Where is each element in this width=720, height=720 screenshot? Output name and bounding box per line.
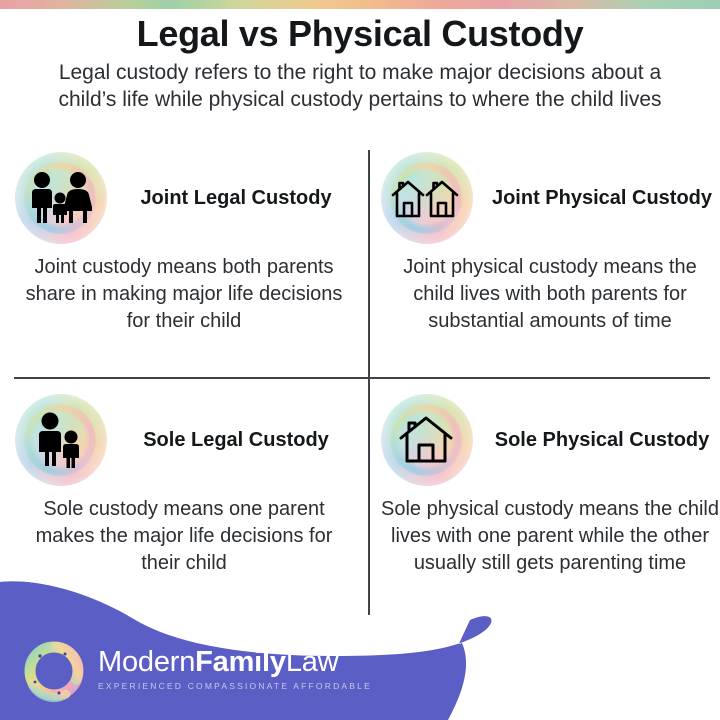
quadrant-joint-physical-custody: Joint Physical Custody Joint physical cu…: [374, 148, 720, 335]
single-house-icon: [398, 414, 454, 466]
quadrant-title: Joint Legal Custody: [112, 186, 360, 211]
brand-tagline: EXPERIENCED COMPASSIONATE AFFORDABLE: [98, 681, 372, 691]
quadrant-title: Sole Legal Custody: [112, 428, 360, 453]
brand-logo[interactable]: ModernFamilyLaw EXPERIENCED COMPASSIONAT…: [18, 634, 372, 706]
page-subtitle: Legal custody refers to the right to mak…: [30, 59, 690, 113]
horizontal-divider: [14, 377, 710, 379]
top-gradient-strip: [0, 0, 720, 9]
quadrant-header: Joint Physical Custody: [374, 148, 720, 248]
infographic-page: Legal vs Physical Custody Legal custody …: [0, 0, 720, 720]
brand-wordmark: ModernFamilyLaw: [98, 647, 372, 678]
quadrant-header: Joint Legal Custody: [8, 148, 360, 248]
vertical-divider: [368, 150, 370, 615]
quadrant-title: Sole Physical Custody: [478, 428, 720, 453]
quadrant-joint-legal-custody: Joint Legal Custody Joint custody means …: [8, 148, 360, 335]
icon-badge: [8, 148, 112, 248]
ring-logo-icon: [18, 634, 90, 706]
icon-badge: [374, 148, 478, 248]
quadrant-description: Joint custody means both parents share i…: [8, 254, 360, 335]
quadrant-sole-physical-custody: Sole Physical Custody Sole physical cust…: [374, 390, 720, 577]
single-parent-child-icon: [34, 412, 86, 468]
quadrant-header: Sole Physical Custody: [374, 390, 720, 490]
quadrant-title: Joint Physical Custody: [478, 186, 720, 211]
quadrant-sole-legal-custody: Sole Legal Custody Sole custody means on…: [8, 390, 360, 577]
page-title: Legal vs Physical Custody: [0, 12, 720, 56]
icon-badge: [8, 390, 112, 490]
icon-badge: [374, 390, 478, 490]
quadrant-description: Joint physical custody means the child l…: [374, 254, 720, 335]
logo-text-block: ModernFamilyLaw EXPERIENCED COMPASSIONAT…: [98, 647, 372, 693]
brand-part-law: Law: [286, 646, 339, 678]
family-two-parents-child-icon: [28, 171, 92, 225]
heading-block: Legal vs Physical Custody Legal custody …: [0, 12, 720, 113]
two-houses-icon: [391, 176, 461, 220]
brand-part-modern: Modern: [98, 646, 195, 678]
quadrant-header: Sole Legal Custody: [8, 390, 360, 490]
brand-part-family: Family: [195, 646, 286, 678]
